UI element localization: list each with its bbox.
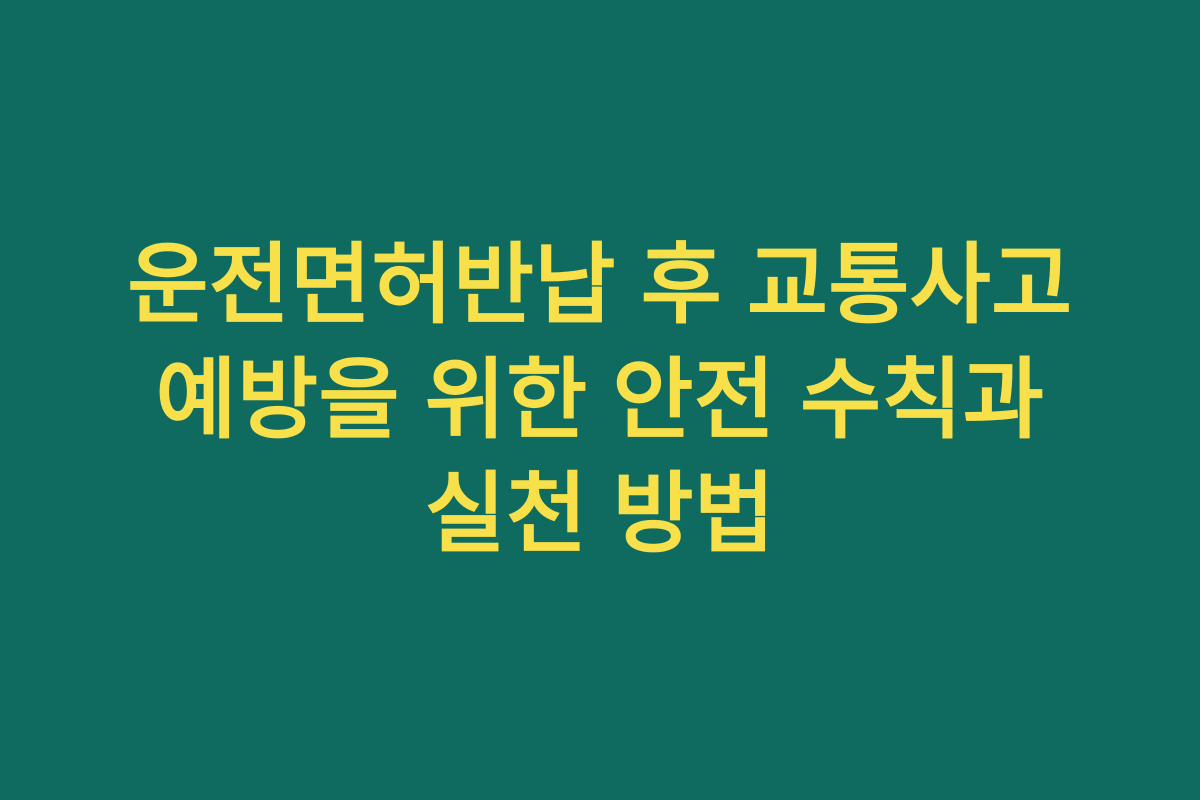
title-card: 운전면허반납 후 교통사고 예방을 위한 안전 수칙과 실천 방법	[0, 0, 1200, 800]
page-title: 운전면허반납 후 교통사고 예방을 위한 안전 수칙과 실천 방법	[96, 228, 1104, 571]
